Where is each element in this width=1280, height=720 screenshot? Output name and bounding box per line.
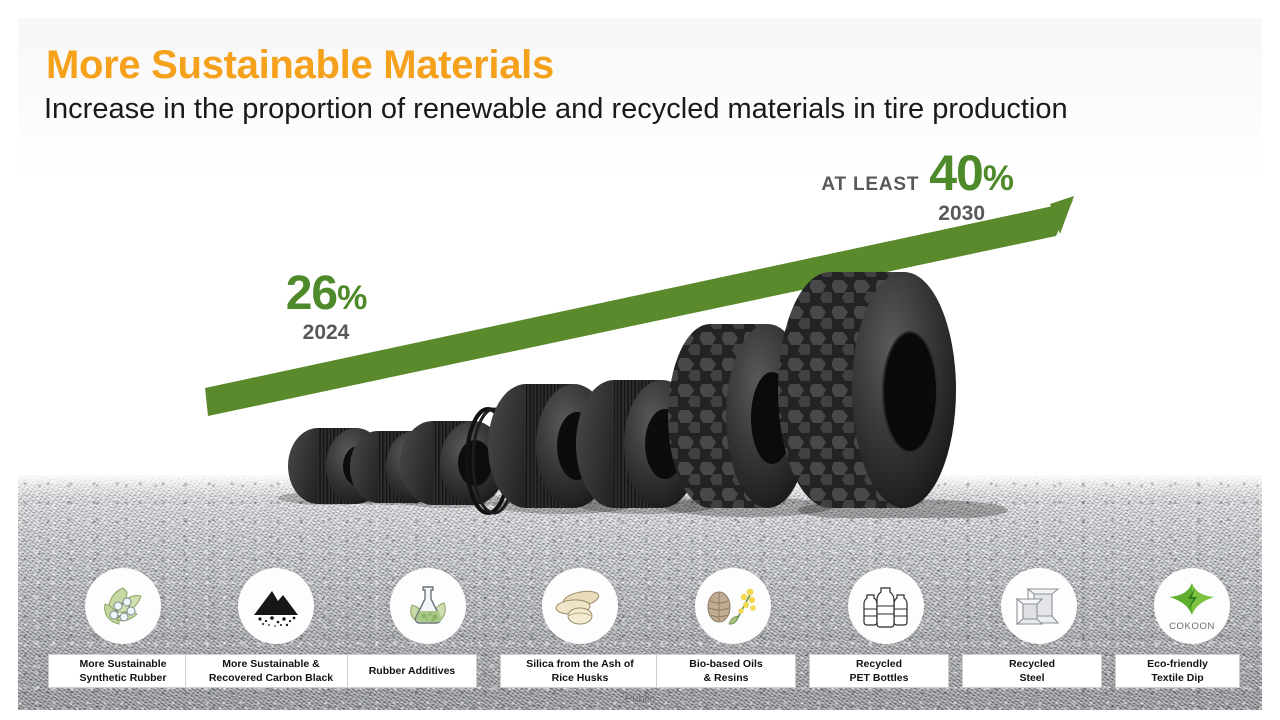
pinecone-flower-icon — [695, 568, 771, 644]
material-label-5-line1: Recycled — [850, 657, 909, 671]
material-icon-node-4[interactable] — [695, 568, 771, 644]
material-label-1-line2: Recovered Carbon Black — [209, 671, 333, 685]
material-label-5-line2: PET Bottles — [850, 671, 909, 685]
tire-lineup — [18, 18, 1262, 518]
flask-leaves-icon — [390, 568, 466, 644]
stat-target-prefix: AT LEAST — [821, 174, 919, 196]
material-label-7-line1: Eco-friendly — [1147, 657, 1208, 671]
material-label-4[interactable]: Bio-based Oils & Resins — [656, 654, 796, 688]
material-label-3-line2: Rice Husks — [526, 671, 634, 685]
material-label-5[interactable]: Recycled PET Bottles — [809, 654, 949, 688]
material-label-6-line1: Recycled — [1009, 657, 1055, 671]
stat-current-unit: % — [337, 279, 366, 317]
material-icon-node-3[interactable] — [542, 568, 618, 644]
material-icon-node-2[interactable] — [390, 568, 466, 644]
material-label-4-line2: & Resins — [689, 671, 763, 685]
material-label-0[interactable]: More Sustainable Synthetic Rubber — [48, 654, 198, 688]
stat-target-value: 40% — [929, 148, 1013, 198]
stat-target-number: 40 — [929, 145, 983, 201]
material-label-1[interactable]: More Sustainable & Recovered Carbon Blac… — [185, 654, 357, 688]
material-label-2-line1: Rubber Additives — [369, 664, 456, 678]
material-label-1-line1: More Sustainable & — [209, 657, 333, 671]
stat-current-value: 26% — [266, 270, 386, 318]
steel-beam-icon — [1001, 568, 1077, 644]
material-label-6-line2: Steel — [1009, 671, 1055, 685]
cokoon-wordmark: COKOON — [1169, 621, 1215, 632]
stat-target-year: 2030 — [753, 202, 1013, 226]
material-icon-node-5[interactable] — [848, 568, 924, 644]
material-icon-node-7[interactable]: COKOON — [1154, 568, 1230, 644]
stat-current-number: 26 — [286, 267, 337, 320]
material-label-2[interactable]: Rubber Additives — [347, 654, 477, 688]
leaves-molecule-icon — [85, 568, 161, 644]
material-label-4-line1: Bio-based Oils — [689, 657, 763, 671]
classification-footer: Public — [18, 693, 1262, 705]
cokoon-logo-icon: COKOON — [1154, 568, 1230, 644]
material-label-7-line2: Textile Dip — [1147, 671, 1208, 685]
material-label-0-line1: More Sustainable — [80, 657, 167, 671]
stat-current-year: 2024 — [266, 322, 386, 343]
material-icon-node-0[interactable] — [85, 568, 161, 644]
stat-current: 26% 2024 — [266, 270, 386, 343]
pet-bottles-icon — [848, 568, 924, 644]
material-label-6[interactable]: Recycled Steel — [962, 654, 1102, 688]
material-label-3-line1: Silica from the Ash of — [526, 657, 634, 671]
material-label-3[interactable]: Silica from the Ash of Rice Husks — [500, 654, 660, 688]
tire-7 — [778, 272, 956, 508]
slide-canvas: More Sustainable Materials Increase in t… — [18, 18, 1262, 710]
material-icon-node-1[interactable] — [238, 568, 314, 644]
material-label-0-line2: Synthetic Rubber — [80, 671, 167, 685]
material-icon-node-6[interactable] — [1001, 568, 1077, 644]
material-label-7[interactable]: Eco-friendly Textile Dip — [1115, 654, 1240, 688]
carbon-black-powder-icon — [238, 568, 314, 644]
stat-target-unit: % — [983, 159, 1013, 198]
stat-target: AT LEAST 40% 2030 — [753, 148, 1013, 226]
rice-husk-icon — [542, 568, 618, 644]
